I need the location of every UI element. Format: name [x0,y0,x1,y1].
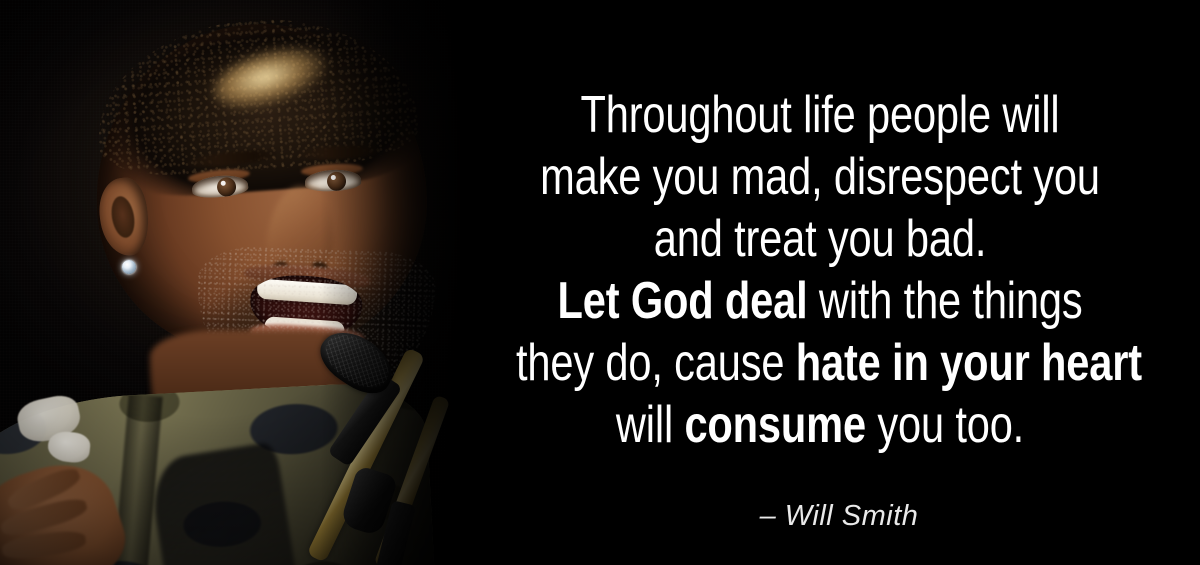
quote-text: Throughout life people willmake you mad,… [516,84,1124,456]
quote-panel: Throughout life people willmake you mad,… [440,0,1200,565]
quote-run: they do, cause [516,334,796,392]
iris-left [216,177,237,198]
earring-stud [122,260,136,274]
quote-line: make you mad, disrespect you [516,146,1124,208]
portrait-photo [0,0,470,565]
quote-run: you too. [866,396,1024,454]
iris-right [327,171,347,191]
quote-line: they do, cause hate in your heart [516,332,1124,394]
quote-emphasis: consume [684,396,866,454]
quote-line: will consume you too. [516,394,1124,456]
quote-run: Throughout life people will [581,86,1060,144]
quote-emphasis: Let God deal [558,272,808,330]
quote-line: and treat you bad. [516,208,1124,270]
quote-run: and treat you bad. [654,210,986,268]
quote-line: Let God deal with the things [516,270,1124,332]
quote-attribution: – Will Smith [722,500,919,533]
quote-line: Throughout life people will [516,84,1124,146]
quote-emphasis: hate in your heart [796,334,1142,392]
quote-run: with the things [808,272,1083,330]
quote-run: make you mad, disrespect you [540,148,1100,206]
quote-run: will [616,396,685,454]
quote-card: Throughout life people willmake you mad,… [0,0,1200,565]
